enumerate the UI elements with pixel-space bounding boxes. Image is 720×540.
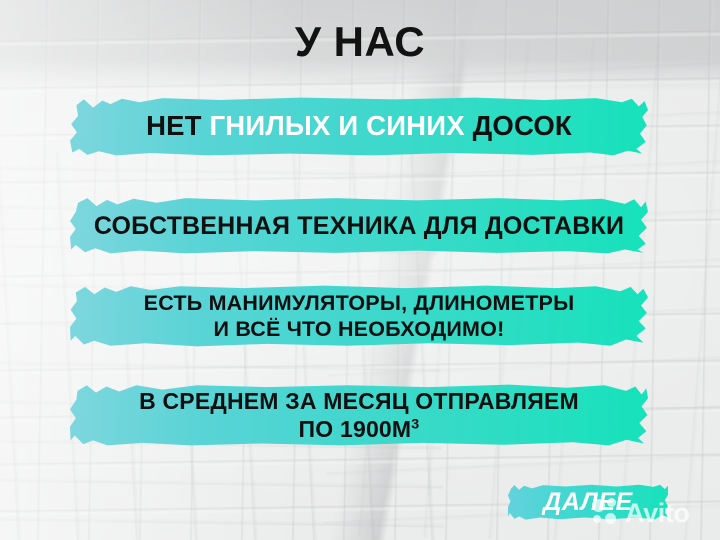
feature-banner-3: ЕСТЬ МАНИМУЛЯТОРЫ, ДЛИНОМЕТРЫИ ВСЁ ЧТО Н… xyxy=(70,285,648,347)
feature-banner-1-text: НЕТ ГНИЛЫХ И СИНИХ ДОСОК xyxy=(146,112,572,141)
feature-banner-4-text: В СРЕДНЕМ ЗА МЕСЯЦ ОТПРАВЛЯЕМПО 1900М3 xyxy=(139,387,579,443)
banner-text-segment: ГНИЛЫХ И СИНИХ xyxy=(210,110,473,141)
feature-banner-4: В СРЕДНЕМ ЗА МЕСЯЦ ОТПРАВЛЯЕМПО 1900М3 xyxy=(70,384,648,446)
banner-text-segment: В СРЕДНЕМ ЗА МЕСЯЦ ОТПРАВЛЯЕМ xyxy=(139,388,579,414)
banner-text-segment: ДОСОК xyxy=(473,110,572,141)
page-title: У НАС xyxy=(0,20,720,64)
feature-banner-2: СОБСТВЕННАЯ ТЕХНИКА ДЛЯ ДОСТАВКИ xyxy=(70,197,648,254)
next-button[interactable]: ДАЛЕЕ xyxy=(508,484,668,520)
banner-text-segment: ПО 1900М xyxy=(299,416,412,442)
banner-text-segment: СОБСТВЕННАЯ ТЕХНИКА ДЛЯ ДОСТАВКИ xyxy=(94,212,624,240)
banner-text-segment: НЕТ xyxy=(146,110,209,141)
banner-text-segment: ЕСТЬ МАНИМУЛЯТОРЫ, ДЛИНОМЕТРЫ xyxy=(144,291,575,315)
feature-banner-1: НЕТ ГНИЛЫХ И СИНИХ ДОСОК xyxy=(70,97,648,156)
next-button-label: ДАЛЕЕ xyxy=(543,488,632,517)
feature-banner-2-text: СОБСТВЕННАЯ ТЕХНИКА ДЛЯ ДОСТАВКИ xyxy=(94,213,624,239)
feature-banner-3-text: ЕСТЬ МАНИМУЛЯТОРЫ, ДЛИНОМЕТРЫИ ВСЁ ЧТО Н… xyxy=(144,290,575,342)
background-vignette xyxy=(0,0,720,540)
promo-poster: У НАС НЕТ ГНИЛЫХ И СИНИХ ДОСОК СОБСТВЕНН… xyxy=(0,0,720,540)
banner-text-segment: И ВСЁ ЧТО НЕОБХОДИМО! xyxy=(214,317,505,341)
banner-text-segment: 3 xyxy=(411,416,419,432)
